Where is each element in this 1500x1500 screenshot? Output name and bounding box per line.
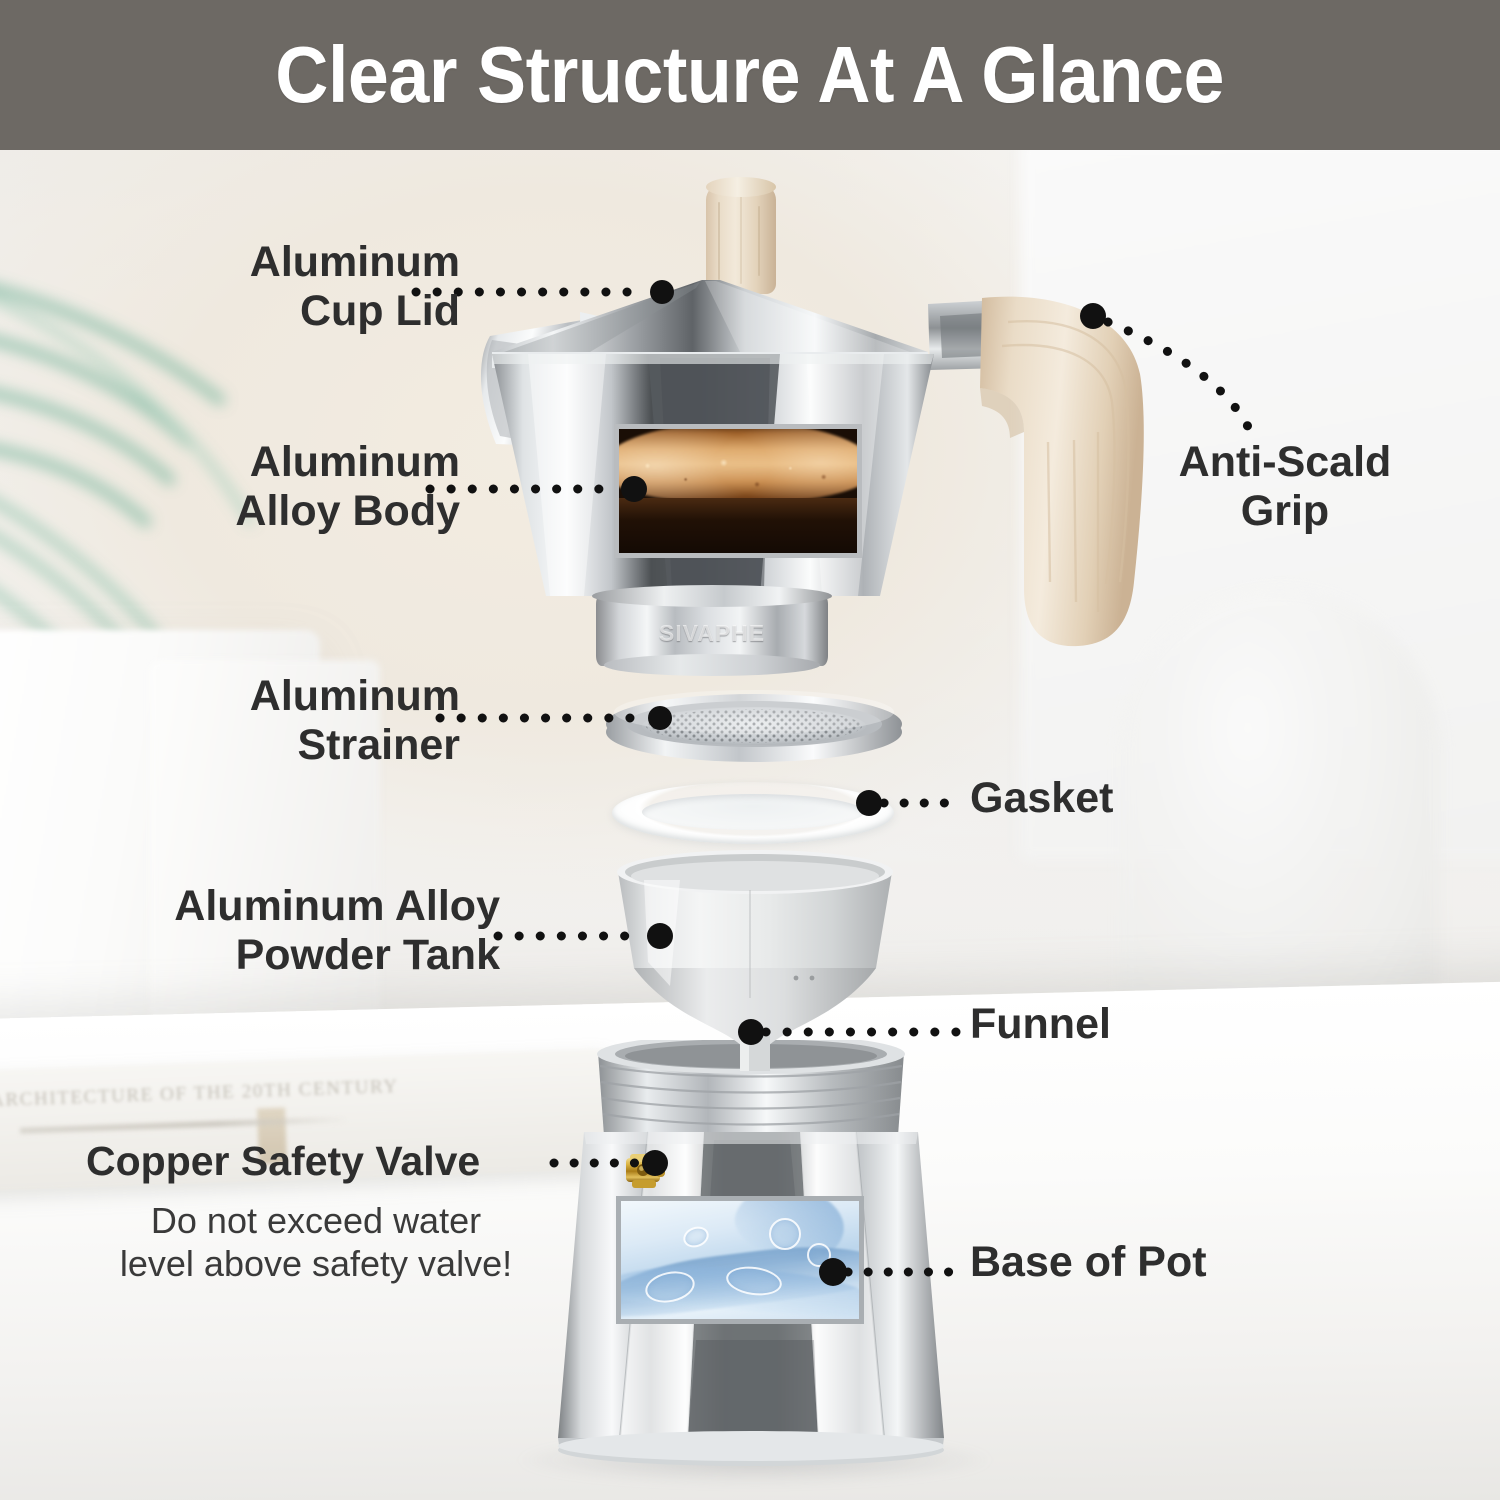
anti-scald-wooden-handle — [928, 282, 1178, 662]
copper-safety-valve — [624, 1152, 672, 1190]
water-bubble — [769, 1218, 801, 1250]
aluminum-strainer-disc — [604, 686, 904, 766]
dark-coffee-layer — [619, 498, 857, 553]
page-title: Clear Structure At A Glance — [276, 29, 1225, 121]
product-exploded-view: SIVAPHE — [0, 0, 1500, 1500]
body-base-collar: SIVAPHE — [596, 594, 828, 666]
silicone-gasket-ring — [612, 782, 894, 844]
water-bubble — [807, 1243, 831, 1267]
infographic-canvas: ARCHITECTURE OF THE 20TH CENTURY Clear S… — [0, 0, 1500, 1500]
header-banner: Clear Structure At A Glance — [0, 0, 1500, 150]
brand-logo: SIVAPHE — [596, 620, 828, 647]
water-splash-photo-inset — [616, 1196, 864, 1324]
wood-grain-line — [758, 206, 760, 276]
coffee-crema-photo-inset — [614, 424, 862, 558]
wood-grain-line — [740, 194, 742, 284]
crema-bubbles — [619, 441, 857, 503]
wood-grain-line — [718, 202, 720, 280]
aluminum-alloy-powder-tank — [600, 846, 910, 1071]
